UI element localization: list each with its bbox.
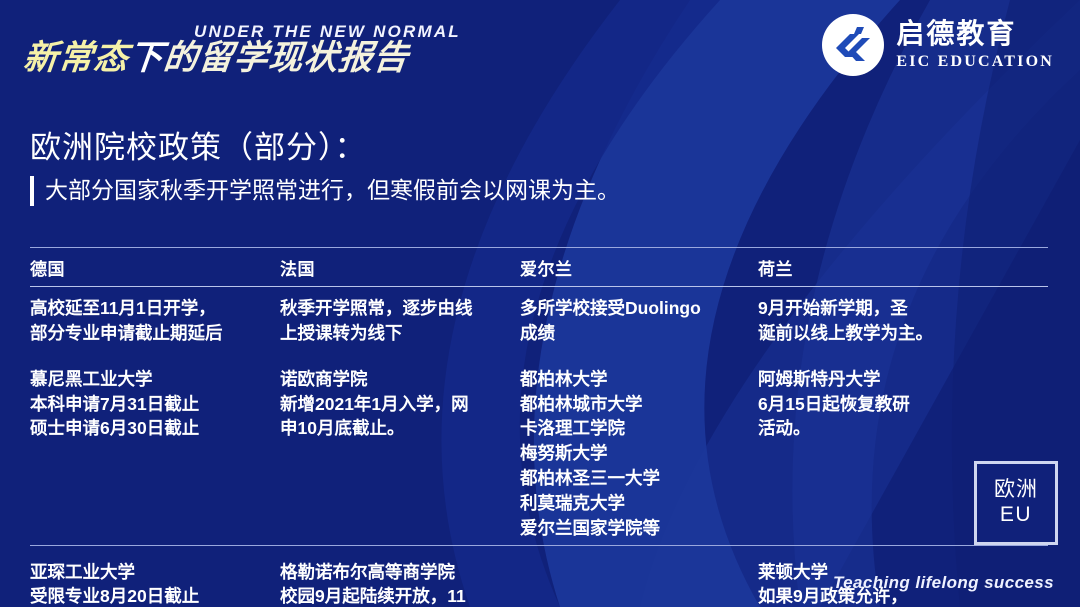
cell-france-detail-2: 格勒诺布尔高等商学院 校园9月起陆续开放，11 月开始线下授课。 [280, 560, 520, 607]
eic-mark-svg [830, 22, 876, 68]
table-row: 高校延至11月1日开学， 部分专业申请截止期延后 秋季开学照常，逐步由线 上授课… [30, 296, 1048, 348]
page-title: 欧洲院校政策（部分）： [30, 122, 367, 167]
column-header-ireland: 爱尔兰 [520, 255, 758, 280]
cell-netherlands-summary: 9月开始新学期，圣 诞前以线上教学为主。 [758, 296, 1048, 348]
row-spacer [30, 348, 1048, 367]
cell-germany-detail-2: 亚琛工业大学 受限专业8月20日截止 非受限专业10月15日截 止 [30, 560, 280, 607]
brand-name-cn: 启德教育 [896, 20, 1054, 48]
brand-text: 启德教育 EIC EDUCATION [896, 20, 1054, 70]
brand-logo: 启德教育 EIC EDUCATION [822, 14, 1054, 76]
column-header-germany: 德国 [30, 255, 280, 280]
eic-monogram-icon [822, 14, 884, 76]
column-header-france: 法国 [280, 255, 520, 280]
brand-name-en: EIC EDUCATION [896, 54, 1054, 70]
region-badge-en: EU [1000, 502, 1032, 528]
column-header-netherlands: 荷兰 [758, 255, 1048, 280]
cell-germany-summary: 高校延至11月1日开学， 部分专业申请截止期延后 [30, 296, 280, 348]
brand-tagline: Teaching lifelong success [833, 573, 1054, 593]
slide-root: UNDER THE NEW NORMAL 新常态下的留学现状报告 启德教育 EI… [0, 0, 1080, 607]
page-subtitle: 大部分国家秋季开学照常进行，但寒假前会以网课为主。 [30, 176, 620, 206]
kicker-chinese: 新常态下的留学现状报告 [21, 30, 411, 79]
row-spacer [30, 541, 1048, 560]
table-rule-bottom [30, 545, 1048, 546]
table-header-row: 德国 法国 爱尔兰 荷兰 [30, 248, 1048, 286]
cell-ireland-detail-1: 都柏林大学 都柏林城市大学 卡洛理工学院 梅努斯大学 都柏林圣三一大学 利莫瑞克… [520, 367, 758, 541]
region-badge: 欧洲 EU [974, 461, 1058, 545]
kicker-white: 下 [127, 39, 166, 77]
kicker-highlight: 新常态 [22, 39, 131, 77]
cell-france-detail-1: 诺欧商学院 新增2021年1月入学，网 申10月底截止。 [280, 367, 520, 541]
policy-table: 德国 法国 爱尔兰 荷兰 高校延至11月1日开学， 部分专业申请截止期延后 秋季… [30, 247, 1048, 607]
kicker-rest: 的留学现状报告 [162, 39, 411, 77]
cell-ireland-detail-2 [520, 560, 758, 607]
table-row: 慕尼黑工业大学 本科申请7月31日截止 硕士申请6月30日截止 诺欧商学院 新增… [30, 367, 1048, 541]
region-badge-cn: 欧洲 [994, 477, 1038, 502]
cell-ireland-summary: 多所学校接受Duolingo 成绩 [520, 296, 758, 348]
table-body: 高校延至11月1日开学， 部分专业申请截止期延后 秋季开学照常，逐步由线 上授课… [30, 287, 1048, 607]
cell-france-summary: 秋季开学照常，逐步由线 上授课转为线下 [280, 296, 520, 348]
cell-germany-detail-1: 慕尼黑工业大学 本科申请7月31日截止 硕士申请6月30日截止 [30, 367, 280, 541]
report-kicker: UNDER THE NEW NORMAL 新常态下的留学现状报告 [24, 10, 444, 88]
